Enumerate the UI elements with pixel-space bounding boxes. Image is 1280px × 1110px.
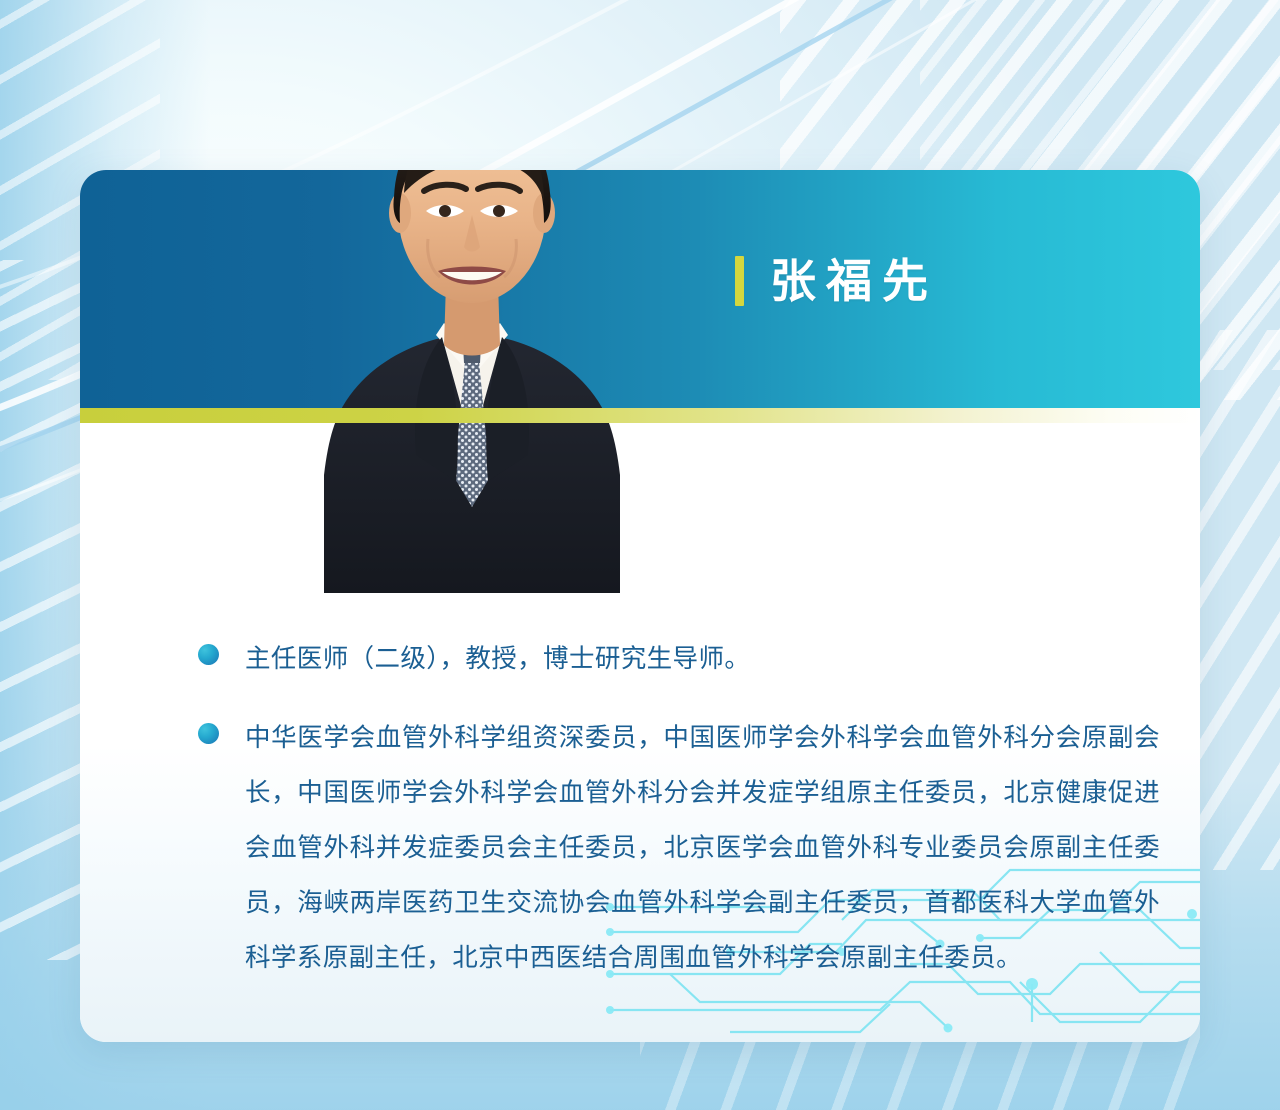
profile-card: 张福先 [80,170,1200,1042]
bio-list: 主任医师（二级），教授，博士研究生导师。 中华医学会血管外科学组资深委员，中国医… [198,632,1160,1010]
poster-page: 张福先 [0,0,1280,1110]
list-item: 中华医学会血管外科学组资深委员，中国医师学会外科学会血管外科分会原副会长，中国医… [198,711,1160,986]
avatar [324,170,620,593]
bullet-dot-icon [198,723,219,744]
bullet-dot-icon [198,644,219,665]
name-accent-tick-icon [735,256,744,306]
bio-text: 中华医学会血管外科学组资深委员，中国医师学会外科学会血管外科分会原副会长，中国医… [245,711,1160,986]
list-item: 主任医师（二级），教授，博士研究生导师。 [198,632,1160,687]
page-title: 张福先 [770,258,938,304]
accent-divider-bar [80,408,1200,423]
card-header [80,170,1200,408]
bio-text: 主任医师（二级），教授，博士研究生导师。 [245,632,750,687]
name-block: 张福先 [735,256,938,306]
